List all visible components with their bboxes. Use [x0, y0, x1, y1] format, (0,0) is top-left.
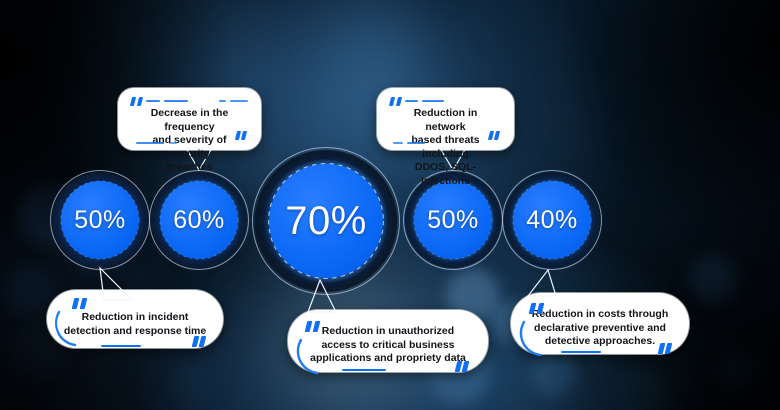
- accent-dash: [342, 369, 386, 371]
- quote-close-icon: [489, 131, 500, 140]
- quote-close-icon: [456, 361, 469, 372]
- accent-dash: [219, 100, 226, 102]
- accent-dash: [422, 100, 444, 102]
- accent-dash: [169, 142, 177, 144]
- quote-open-icon: [530, 303, 543, 314]
- quote-open-icon: [306, 321, 319, 332]
- accent-dash: [561, 351, 601, 353]
- callout-text: Decrease in the frequency and severity o…: [120, 107, 259, 175]
- callout-text: Reduction in network based threats inclu…: [379, 107, 512, 188]
- accent-dash: [405, 100, 418, 102]
- accent-dash: [164, 100, 188, 102]
- quote-close-icon: [236, 131, 247, 140]
- quote-close-icon: [193, 336, 206, 347]
- quote-close-icon: [659, 343, 672, 354]
- accent-dash: [407, 142, 425, 144]
- accent-dash: [136, 142, 164, 144]
- quote-open-icon: [73, 298, 86, 309]
- quote-open-icon: [390, 97, 401, 106]
- accent-dash: [230, 100, 248, 102]
- accent-dash: [146, 100, 160, 102]
- accent-dash: [393, 142, 403, 144]
- callout-text: Reduction in unauthorized access to crit…: [290, 325, 486, 366]
- quote-open-icon: [131, 97, 142, 106]
- infographic-stage: 50% 60% 70% 50%: [0, 0, 780, 410]
- callout-text: Reduction in incident detection and resp…: [49, 311, 221, 338]
- accent-dash: [101, 345, 141, 347]
